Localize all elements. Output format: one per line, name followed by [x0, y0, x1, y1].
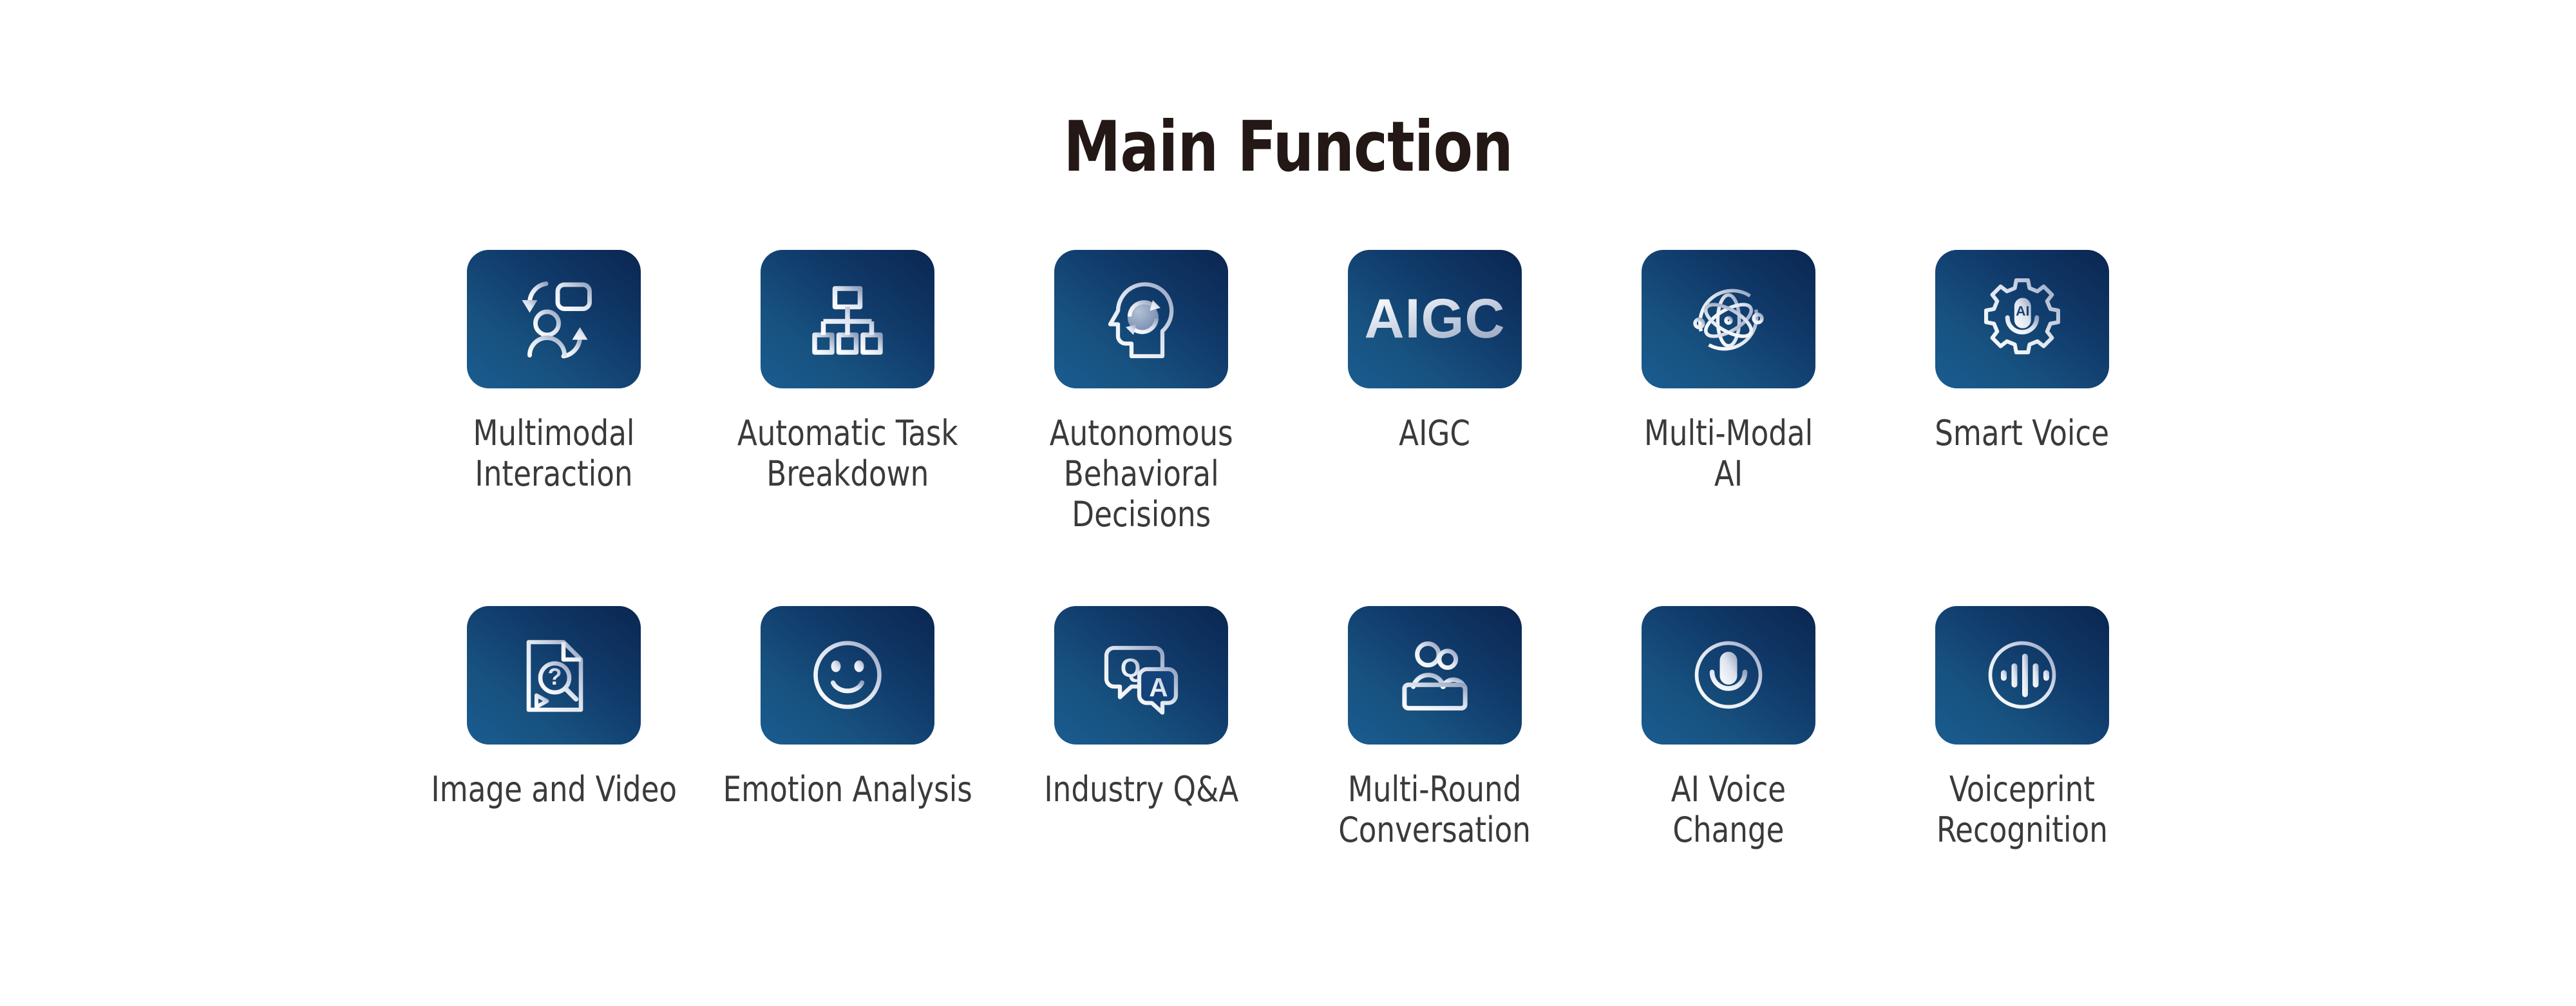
- feature-card-smart-voice[interactable]: AI Smart Voice: [1887, 250, 2157, 453]
- microphone-circle-icon: [1680, 627, 1777, 723]
- qa-speech-bubbles-icon: Q A: [1093, 627, 1189, 723]
- multimodal-interaction-icon: [506, 271, 602, 368]
- gear-ai-label: AI: [2016, 303, 2029, 318]
- feature-tile[interactable]: [1935, 606, 2109, 745]
- feature-tile[interactable]: [761, 606, 934, 745]
- a-glyph: A: [1149, 672, 1168, 702]
- people-panel-icon: [1386, 626, 1484, 724]
- feature-tile[interactable]: [467, 250, 641, 388]
- feature-grid: Multimodal Interaction: [419, 250, 2157, 850]
- main-function-page: Main Function: [0, 0, 2576, 1006]
- feature-card-image-and-video[interactable]: ? Image and Video: [419, 606, 689, 810]
- page-title: Main Function: [1063, 113, 1513, 182]
- feature-tile[interactable]: [1348, 606, 1522, 745]
- task-hierarchy-icon: [799, 271, 896, 368]
- waveform-circle-icon: [1974, 627, 2070, 723]
- feature-tile[interactable]: AIGC: [1348, 250, 1522, 388]
- feature-tile[interactable]: [1642, 250, 1815, 388]
- feature-label: AIGC: [1399, 413, 1471, 453]
- feature-card-emotion-analysis[interactable]: Emotion Analysis: [712, 606, 983, 810]
- aigc-text-icon: AIGC: [1365, 287, 1506, 351]
- feature-tile[interactable]: [1642, 606, 1815, 745]
- head-refresh-icon: [1093, 271, 1189, 368]
- feature-tile[interactable]: [1054, 250, 1228, 388]
- feature-card-multi-round-conversation[interactable]: Multi-Round Conversation: [1300, 606, 1570, 850]
- feature-tile[interactable]: [761, 250, 934, 388]
- question-mark-glyph: ?: [548, 663, 562, 690]
- feature-label: Automatic Task Breakdown: [737, 413, 958, 494]
- feature-label: Voiceprint Recognition: [1937, 769, 2108, 850]
- feature-tile[interactable]: ?: [467, 606, 641, 745]
- feature-label: Industry Q&A: [1044, 769, 1238, 810]
- gear-ai-microphone-icon: AI: [1973, 270, 2071, 368]
- feature-card-automatic-task-breakdown[interactable]: Automatic Task Breakdown: [712, 250, 983, 494]
- feature-card-multi-modal-ai[interactable]: Multi-Modal AI: [1593, 250, 1864, 494]
- feature-label: AI Voice Change: [1671, 769, 1786, 850]
- feature-card-aigc[interactable]: AIGC AIGC: [1300, 250, 1570, 453]
- feature-label: Multi-Modal AI: [1644, 413, 1813, 494]
- feature-row-1: Multimodal Interaction: [419, 250, 2157, 535]
- feature-label: Multi-Round Conversation: [1339, 769, 1531, 850]
- feature-card-voiceprint-recognition[interactable]: Voiceprint Recognition: [1887, 606, 2157, 850]
- document-search-play-icon: ?: [506, 627, 602, 723]
- atom-orbit-icon: [1680, 270, 1777, 368]
- feature-label: Image and Video: [431, 769, 677, 810]
- feature-label: Multimodal Interaction: [473, 413, 634, 494]
- feature-tile[interactable]: Q A: [1054, 606, 1228, 745]
- feature-label: Autonomous Behavioral Decisions: [1049, 413, 1233, 535]
- feature-card-ai-voice-change[interactable]: AI Voice Change: [1593, 606, 1864, 850]
- feature-tile[interactable]: AI: [1935, 250, 2109, 388]
- feature-card-industry-qa[interactable]: Q A Industry Q&A: [1006, 606, 1276, 810]
- feature-label: Smart Voice: [1935, 413, 2110, 453]
- feature-row-2: ? Image and Video: [419, 606, 2157, 850]
- feature-card-autonomous-behavioral-decisions[interactable]: Autonomous Behavioral Decisions: [1006, 250, 1276, 535]
- feature-label: Emotion Analysis: [723, 769, 972, 810]
- feature-card-multimodal-interaction[interactable]: Multimodal Interaction: [419, 250, 689, 494]
- smiley-face-icon: [799, 627, 896, 723]
